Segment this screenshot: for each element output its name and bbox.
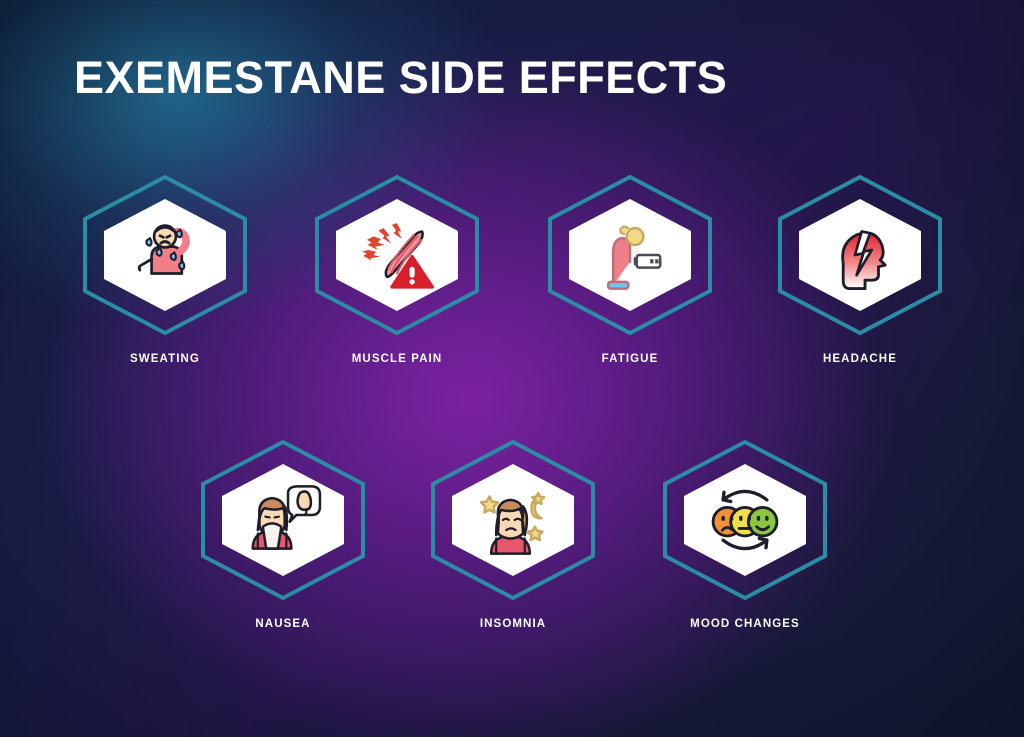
side-effect-card-nausea[interactable]: NAUSEA	[197, 438, 369, 630]
hexagon-frame	[774, 173, 946, 337]
card-label: HEADACHE	[774, 353, 946, 365]
side-effect-card-headache[interactable]: HEADACHE	[774, 173, 946, 365]
hexagon-frame	[427, 438, 599, 602]
headache-head-icon	[774, 173, 946, 337]
card-label: NAUSEA	[197, 618, 369, 630]
card-label: SWEATING	[79, 353, 251, 365]
sweating-person-icon	[79, 173, 251, 337]
mood-changes-faces-icon	[659, 438, 831, 602]
hexagon-frame	[659, 438, 831, 602]
side-effect-card-sweating[interactable]: SWEATING	[79, 173, 251, 365]
side-effect-card-insomnia[interactable]: INSOMNIA	[427, 438, 599, 630]
nausea-stomach-icon	[197, 438, 369, 602]
page-title: EXEMESTANE SIDE EFFECTS	[74, 55, 727, 100]
side-effect-card-mood-changes[interactable]: MOOD CHANGES	[659, 438, 831, 630]
hexagon-frame	[197, 438, 369, 602]
side-effect-card-fatigue[interactable]: FATIGUE	[544, 173, 716, 365]
card-label: MOOD CHANGES	[659, 618, 831, 630]
muscle-pain-icon	[311, 173, 483, 337]
infographic-poster: EXEMESTANE SIDE EFFECTS	[0, 0, 1024, 737]
hexagon-frame	[544, 173, 716, 337]
fatigue-battery-icon	[544, 173, 716, 337]
card-label: MUSCLE PAIN	[311, 353, 483, 365]
side-effect-card-muscle-pain[interactable]: MUSCLE PAIN	[311, 173, 483, 365]
hexagon-frame	[311, 173, 483, 337]
insomnia-moon-icon	[427, 438, 599, 602]
card-label: INSOMNIA	[427, 618, 599, 630]
hexagon-frame	[79, 173, 251, 337]
card-label: FATIGUE	[544, 353, 716, 365]
